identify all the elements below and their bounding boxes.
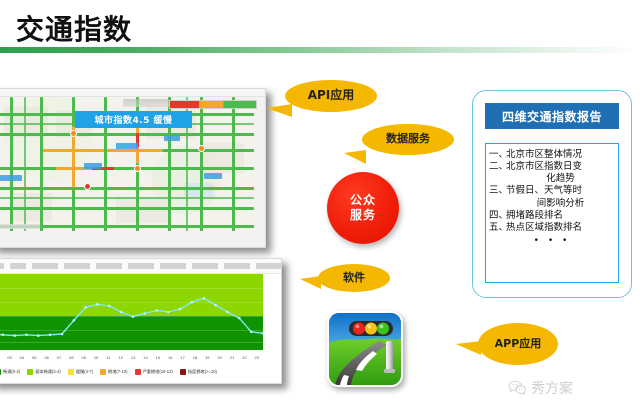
wechat-icon bbox=[508, 380, 526, 396]
chart-right-margin bbox=[263, 274, 281, 361]
chart-x-tick: 16 bbox=[164, 355, 176, 360]
chart-data-point bbox=[120, 311, 123, 314]
chart-legend: 畅通(0-2)基本畅通(2-4)缓慢(4-7)拥堵(7-10)严重拥堵(10-1… bbox=[0, 363, 281, 381]
chart-legend-swatch bbox=[27, 369, 33, 375]
chart-x-tick: 23 bbox=[251, 355, 263, 360]
hub-line-1: 公众 bbox=[350, 193, 376, 208]
chart-data-point bbox=[238, 317, 241, 320]
report-item-number: 二、 bbox=[489, 161, 506, 173]
chart-data-point bbox=[203, 297, 206, 300]
report-item: 间影响分析 bbox=[489, 198, 615, 210]
report-item-number bbox=[489, 173, 506, 185]
chart-legend-swatch bbox=[135, 369, 141, 375]
chart-legend-swatch bbox=[0, 369, 1, 375]
chart-x-tick: 09 bbox=[78, 355, 90, 360]
watermark-label: 秀方案 bbox=[531, 378, 573, 398]
chart-x-tick: 08 bbox=[65, 355, 77, 360]
chart-x-tick: 20 bbox=[213, 355, 225, 360]
report-item-text: 节假日、天气等时 bbox=[506, 185, 615, 197]
report-item-number bbox=[489, 198, 506, 210]
map-window-chrome bbox=[0, 89, 265, 97]
callout-app[interactable]: APP应用 bbox=[478, 323, 558, 365]
chart-x-tick: 14 bbox=[139, 355, 151, 360]
chart-data-point bbox=[61, 333, 64, 336]
report-item: 化趋势 bbox=[489, 173, 615, 185]
chart-x-tick: 21 bbox=[226, 355, 238, 360]
chart-legend-label: 严重拥堵(10-12) bbox=[143, 369, 173, 375]
title-underline-rule bbox=[0, 47, 640, 53]
chart-legend-item: 极度拥堵(>=10) bbox=[180, 369, 217, 375]
chart-legend-label: 缓慢(4-7) bbox=[76, 369, 93, 375]
report-item-number: 三、 bbox=[489, 185, 506, 197]
report-item: 五、热点区域指数排名 bbox=[489, 222, 615, 234]
report-item-text: 拥堵路段排名 bbox=[506, 210, 615, 222]
chart-legend-label: 基本畅通(2-4) bbox=[35, 369, 61, 375]
traffic-map-screenshot[interactable]: 城市指数4.5 缓慢 bbox=[0, 88, 266, 248]
map-congestion-legend bbox=[169, 100, 257, 109]
report-item: 三、节假日、天气等时 bbox=[489, 185, 615, 197]
chart-legend-swatch bbox=[100, 369, 106, 375]
chart-x-tick: 11 bbox=[102, 355, 114, 360]
chart-x-tick: 07 bbox=[53, 355, 65, 360]
chart-data-point bbox=[84, 306, 87, 309]
chart-data-point bbox=[155, 309, 158, 312]
report-item-text: 热点区域指数排名 bbox=[506, 222, 615, 234]
chart-legend-item: 严重拥堵(10-12) bbox=[135, 369, 173, 375]
chart-legend-item: 畅通(0-2) bbox=[0, 369, 20, 375]
wechat-watermark: 秀方案 bbox=[508, 378, 573, 398]
chart-data-point bbox=[2, 334, 5, 337]
chart-data-point bbox=[108, 305, 111, 308]
report-item-text: 化趋势 bbox=[506, 173, 615, 185]
chart-data-point bbox=[25, 334, 28, 337]
chart-x-tick: 19 bbox=[201, 355, 213, 360]
chart-legend-swatch bbox=[180, 369, 186, 375]
chart-toolbar[interactable] bbox=[0, 259, 282, 274]
report-ellipsis: • • • bbox=[489, 236, 615, 246]
chart-x-tick: 22 bbox=[238, 355, 250, 360]
report-item: 四、拥堵路段排名 bbox=[489, 210, 615, 222]
traffic-app-icon[interactable] bbox=[327, 311, 403, 387]
report-item-number: 五、 bbox=[489, 222, 506, 234]
chart-data-point bbox=[13, 334, 16, 337]
chart-legend-item: 拥堵(7-10) bbox=[100, 369, 128, 375]
chart-data-point bbox=[226, 311, 229, 314]
report-item-text: 北京市区整体情况 bbox=[506, 149, 615, 161]
chart-x-tick: 04 bbox=[16, 355, 28, 360]
chart-data-point bbox=[179, 308, 182, 311]
chart-x-axis: 0203040506070809101112131415161718192021… bbox=[0, 352, 263, 362]
data-service-callout-tail bbox=[344, 150, 366, 164]
chart-x-tick: 15 bbox=[152, 355, 164, 360]
chart-x-tick: 05 bbox=[28, 355, 40, 360]
hub-line-2: 服务 bbox=[350, 208, 376, 223]
city-index-banner: 城市指数4.5 缓慢 bbox=[75, 111, 192, 128]
chart-x-tick: 18 bbox=[189, 355, 201, 360]
report-item-number: 一、 bbox=[489, 149, 506, 161]
traffic-app-icon-art bbox=[329, 313, 401, 385]
map-legend-caption bbox=[123, 99, 169, 107]
chart-data-point bbox=[143, 312, 146, 315]
report-item-text: 间影响分析 bbox=[506, 198, 615, 210]
traffic-index-chart-screenshot[interactable]: 0203040506070809101112131415161718192021… bbox=[0, 258, 282, 384]
report-title: 四维交通指数报告 bbox=[485, 103, 619, 129]
report-item: 一、北京市区整体情况 bbox=[489, 149, 615, 161]
callout-software[interactable]: 软件 bbox=[318, 264, 390, 292]
report-card: 四维交通指数报告 一、北京市区整体情况二、北京市区指数日变化趋势三、节假日、天气… bbox=[472, 90, 632, 298]
chart-legend-item: 基本畅通(2-4) bbox=[27, 369, 61, 375]
chart-x-tick: 10 bbox=[90, 355, 102, 360]
chart-legend-label: 极度拥堵(>=10) bbox=[188, 369, 217, 375]
report-item-list: 一、北京市区整体情况二、北京市区指数日变化趋势三、节假日、天气等时间影响分析四、… bbox=[485, 143, 619, 283]
chart-plot-area bbox=[0, 274, 263, 350]
map-scale-bar bbox=[0, 224, 40, 229]
chart-x-tick: 17 bbox=[176, 355, 188, 360]
chart-legend-label: 畅通(0-2) bbox=[3, 369, 20, 375]
slide-canvas: 交通指数 bbox=[0, 0, 640, 418]
chart-data-point bbox=[96, 303, 99, 306]
api-callout-tail bbox=[266, 104, 292, 117]
report-item-text: 北京市区指数日变 bbox=[506, 161, 615, 173]
chart-data-point bbox=[167, 311, 170, 314]
callout-api[interactable]: API应用 bbox=[285, 80, 377, 112]
chart-data-point bbox=[49, 334, 52, 337]
callout-data-service[interactable]: 数据服务 bbox=[362, 124, 454, 155]
page-title: 交通指数 bbox=[16, 8, 132, 48]
chart-x-tick: 06 bbox=[40, 355, 52, 360]
chart-data-point bbox=[214, 304, 217, 307]
report-item-number: 四、 bbox=[489, 210, 506, 222]
callout-app-label: APP应用 bbox=[495, 338, 542, 351]
chart-data-point bbox=[37, 334, 40, 337]
chart-x-tick: 03 bbox=[3, 355, 15, 360]
chart-data-point bbox=[73, 319, 76, 322]
chart-series-line bbox=[0, 274, 263, 350]
chart-x-tick: 13 bbox=[127, 355, 139, 360]
chart-legend-label: 拥堵(7-10) bbox=[108, 369, 128, 375]
public-service-hub[interactable]: 公众 服务 bbox=[327, 172, 399, 244]
chart-legend-swatch bbox=[68, 369, 74, 375]
chart-x-tick: 12 bbox=[115, 355, 127, 360]
chart-legend-item: 缓慢(4-7) bbox=[68, 369, 93, 375]
report-item: 二、北京市区指数日变 bbox=[489, 161, 615, 173]
